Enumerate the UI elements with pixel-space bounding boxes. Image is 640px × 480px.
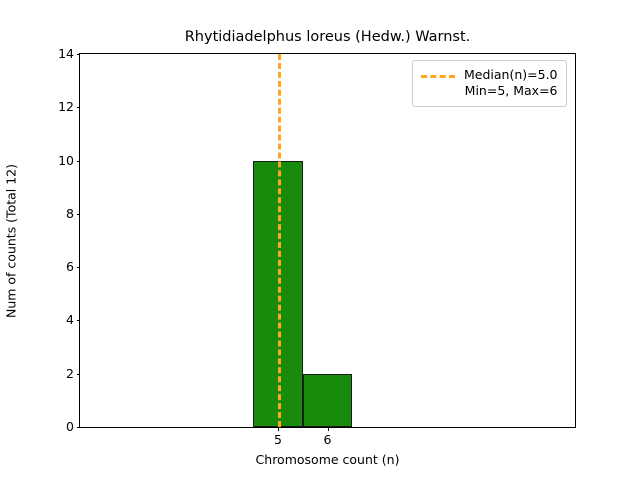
x-axis-label: Chromosome count (n) (79, 452, 576, 467)
y-tick-mark (77, 374, 81, 375)
legend-label-minmax: Min=5, Max=6 (464, 83, 558, 99)
x-tick-label: 5 (274, 434, 282, 447)
legend-label-median: Median(n)=5.0 (464, 67, 558, 83)
y-tick-mark (77, 320, 81, 321)
y-tick-label: 14 (58, 48, 74, 61)
y-tick-label: 0 (66, 421, 74, 434)
plot-area: 0246810121456 (79, 53, 576, 428)
y-tick-label: 4 (66, 314, 74, 327)
y-tick-mark (77, 161, 81, 162)
median-line (278, 54, 281, 427)
legend-dashed-line-icon (421, 68, 455, 84)
x-tick-mark (278, 427, 279, 431)
x-tick-mark (328, 427, 329, 431)
figure-canvas: Rhytidiadelphus loreus (Hedw.) Warnst. N… (0, 0, 640, 480)
chart-title: Rhytidiadelphus loreus (Hedw.) Warnst. (79, 28, 576, 46)
x-tick-label: 6 (324, 434, 332, 447)
legend-label-group: Median(n)=5.0 Min=5, Max=6 (464, 67, 558, 99)
legend-box: Median(n)=5.0 Min=5, Max=6 (412, 60, 567, 107)
y-tick-mark (77, 54, 81, 55)
y-tick-label: 2 (66, 367, 74, 380)
y-tick-label: 6 (66, 261, 74, 274)
y-tick-mark (77, 427, 81, 428)
y-tick-mark (77, 214, 81, 215)
y-axis-label-container: Num of counts (Total 12) (0, 53, 22, 428)
y-axis-label: Num of counts (Total 12) (4, 163, 19, 317)
y-tick-label: 10 (58, 154, 74, 167)
y-tick-mark (77, 107, 81, 108)
legend-entry: Median(n)=5.0 Min=5, Max=6 (421, 67, 558, 99)
y-tick-mark (77, 267, 81, 268)
y-tick-label: 8 (66, 208, 74, 221)
y-tick-label: 12 (58, 101, 74, 114)
bar (303, 374, 353, 427)
